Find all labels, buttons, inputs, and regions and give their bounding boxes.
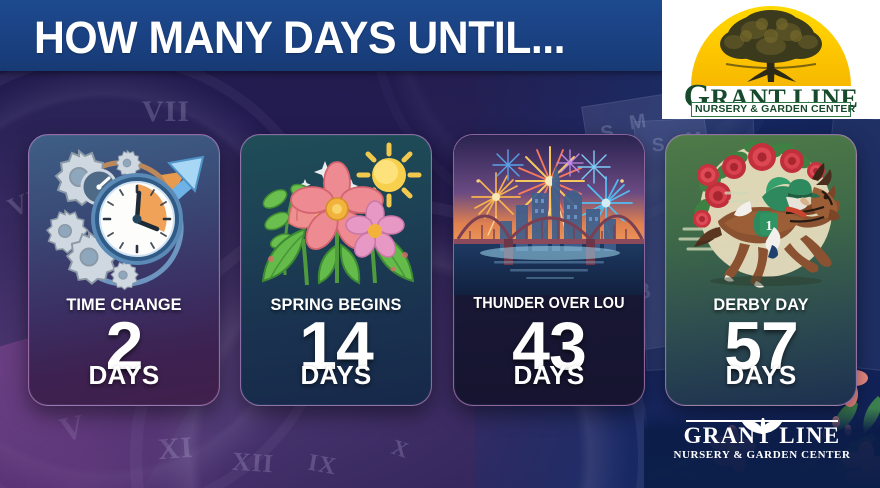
sprout-leaf-icon — [735, 412, 789, 434]
countdown-card-spring-begins[interactable]: SPRING BEGINS 14 DAYS — [240, 134, 432, 406]
card-unit: DAYS — [241, 360, 431, 391]
flowers-sun-icon — [241, 135, 432, 295]
card-unit: DAYS — [29, 360, 219, 391]
countdown-graphic: VII VI V XI XII IX X S M 1 28 S M — [0, 0, 880, 488]
racehorse-roses-icon: 1 — [666, 135, 857, 295]
fireworks-bridge-icon — [454, 135, 645, 295]
card-unit: DAYS — [454, 360, 644, 391]
card-unit: DAYS — [666, 360, 856, 391]
footer-brand-tagline: NURSERY & GARDEN CENTER — [644, 449, 880, 461]
countdown-card-derby-day[interactable]: 1 — [665, 134, 857, 406]
clock-gears-icon — [29, 135, 220, 295]
countdown-card-thunder-over-lou[interactable]: THUNDER OVER LOU 43 DAYS — [453, 134, 645, 406]
footer-brand: GRANT LINE NURSERY & GARDEN CENTER — [644, 408, 880, 488]
countdown-card-time-change[interactable]: TIME CHANGE 2 DAYS — [28, 134, 220, 406]
